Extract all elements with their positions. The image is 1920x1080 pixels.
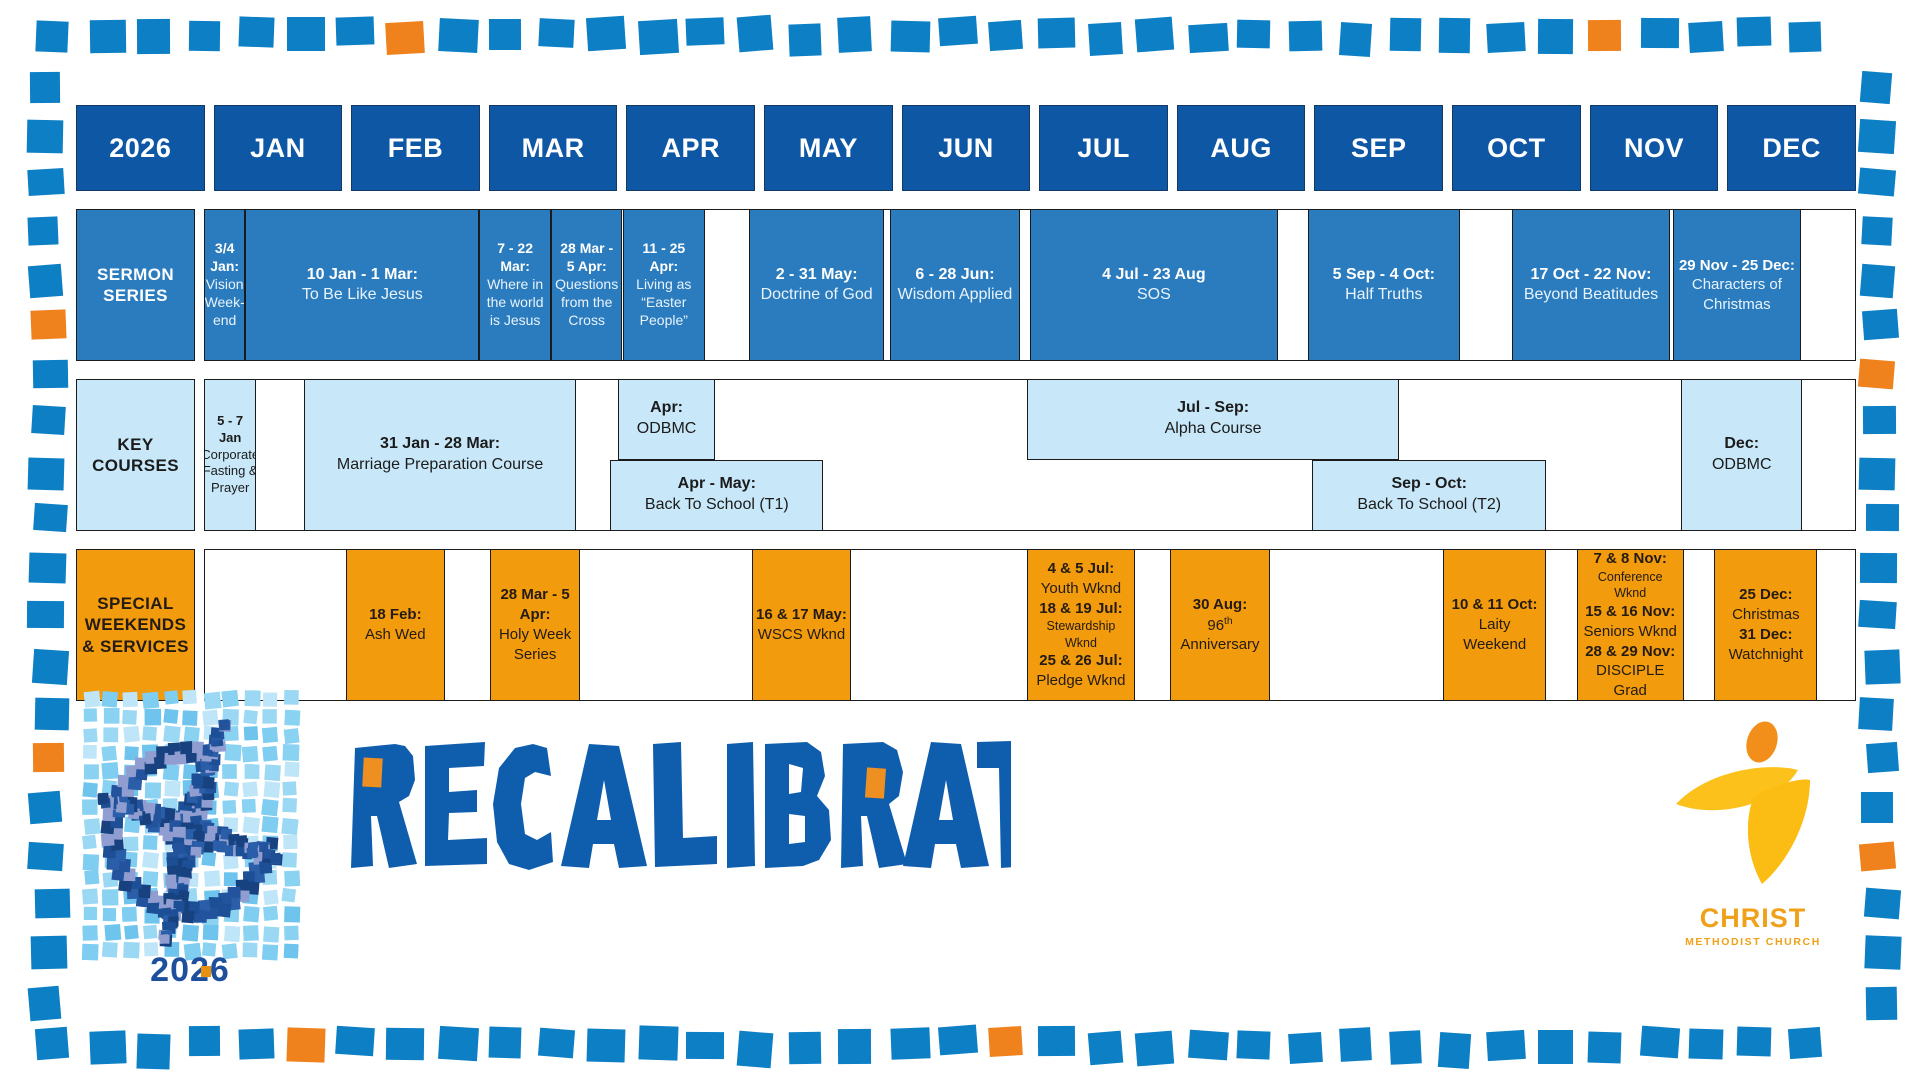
border-tile — [29, 71, 60, 102]
border-tile — [28, 985, 62, 1021]
key-course-item[interactable]: Apr - May:Back To School (T1) — [610, 460, 823, 531]
border-tile — [737, 15, 774, 53]
sermon-series-item[interactable]: 4 Jul - 23 AugSOS — [1030, 209, 1278, 361]
sermon-item-date: 29 Nov - 25 Dec: — [1679, 256, 1795, 275]
key-course-date: Dec: — [1724, 434, 1759, 455]
border-tile — [788, 1032, 820, 1064]
svg-text:2026: 2026 — [150, 951, 230, 989]
key-course-item[interactable]: Dec:ODBMC — [1681, 379, 1802, 531]
border-tile — [1088, 22, 1122, 56]
border-tile — [287, 17, 325, 51]
sermon-item-date: 10 Jan - 1 Mar: — [307, 265, 418, 285]
border-tile — [189, 20, 221, 51]
border-tile — [1588, 1032, 1622, 1064]
border-tile — [1860, 70, 1893, 103]
sermon-item-title: SOS — [1137, 285, 1171, 305]
border-tile — [1866, 986, 1897, 1020]
border-tile — [686, 18, 725, 47]
border-tile — [638, 19, 679, 55]
sermon-series-item[interactable]: 11 - 25 Apr:Living as “Easter People” — [623, 209, 706, 361]
border-tile — [1486, 1030, 1526, 1062]
sermon-item-date: 5 Sep - 4 Oct: — [1333, 265, 1435, 285]
sermon-item-title: Beyond Beatitudes — [1524, 285, 1658, 305]
border-tile — [1865, 935, 1902, 969]
special-entry-title: Laity Weekend — [1447, 615, 1542, 655]
border-tile — [28, 264, 63, 298]
row-label-courses-line-2: COURSES — [92, 455, 179, 476]
key-course-date: Apr: — [650, 398, 683, 419]
month-cell-jul: JUL — [1039, 105, 1168, 191]
month-cell-apr: APR — [626, 105, 755, 191]
sermon-item-title: Half Truths — [1345, 285, 1422, 305]
special-entry-title: Holy Week Series — [494, 625, 575, 665]
key-course-title: ODBMC — [1712, 455, 1772, 476]
special-entry-title: Ash Wed — [365, 625, 426, 645]
month-cell-dec: DEC — [1727, 105, 1856, 191]
key-course-item[interactable]: 31 Jan - 28 Mar:Marriage Preparation Cou… — [304, 379, 575, 531]
border-tile — [1858, 119, 1896, 154]
border-tile — [1788, 21, 1821, 52]
key-course-title: Alpha Course — [1165, 419, 1262, 440]
border-tile — [28, 168, 65, 196]
border-tile — [1864, 650, 1901, 685]
border-tile — [1860, 264, 1896, 299]
month-cell-sep: SEP — [1314, 105, 1443, 191]
border-tile — [1859, 458, 1895, 491]
border-tile — [1862, 406, 1896, 434]
border-tile — [788, 23, 821, 56]
border-tile — [1858, 697, 1894, 731]
border-tile — [488, 19, 520, 50]
key-course-item[interactable]: Apr:ODBMC — [618, 379, 714, 460]
special-entry-date: 28 & 29 Nov: — [1585, 642, 1675, 662]
special-entry-date: 16 & 17 May: — [756, 605, 847, 625]
border-tile — [639, 1026, 679, 1061]
border-tile — [137, 1033, 171, 1069]
border-tile — [1486, 22, 1525, 53]
row-label-courses-line-1: KEY — [117, 434, 153, 455]
border-tile — [336, 17, 375, 46]
border-tile — [1135, 16, 1175, 52]
sermon-series-item[interactable]: 2 - 31 May:Doctrine of God — [749, 209, 884, 361]
border-tile-accent — [287, 1027, 326, 1063]
border-tile — [988, 19, 1023, 50]
sermon-item-date: 6 - 28 Jun: — [915, 265, 994, 285]
sermon-series-item[interactable]: 17 Oct - 22 Nov:Beyond Beatitudes — [1512, 209, 1670, 361]
key-course-date: Sep - Oct: — [1391, 474, 1467, 495]
year-cell: 2026 — [76, 105, 205, 191]
border-tile — [1858, 167, 1896, 196]
sermon-series-item[interactable]: 7 - 22 Mar:Where in the world is Jesus — [479, 209, 551, 361]
border-tile — [1861, 792, 1893, 823]
sermon-item-title: To Be Like Jesus — [302, 285, 423, 305]
special-entry-date: 18 Feb: — [369, 605, 422, 625]
border-tile — [1038, 18, 1076, 48]
key-course-title: Corporate Fasting & Prayer — [204, 447, 256, 498]
sermon-series-item[interactable]: 3/4 Jan:Vision Week-end — [204, 209, 245, 361]
border-tile — [1641, 18, 1679, 49]
border-tile — [1390, 17, 1422, 51]
key-course-date: Apr - May: — [678, 474, 756, 495]
border-tile — [31, 405, 66, 435]
month-cell-may: MAY — [764, 105, 893, 191]
border-tile — [1237, 1030, 1272, 1059]
special-entry-title: Seniors Wknd — [1584, 622, 1677, 642]
track-key-courses: 5 - 7 JanCorporate Fasting & Prayer31 Ja… — [204, 379, 1856, 531]
border-tile — [890, 21, 929, 53]
border-tile — [34, 888, 70, 918]
border-tile — [837, 16, 872, 52]
brand-band: 2026 — [76, 672, 1856, 1002]
row-sermon-series: SERMONSERIES 3/4 Jan:Vision Week-end10 J… — [76, 209, 1856, 361]
sermon-item-title: Where in the world is Jesus — [483, 276, 547, 330]
border-tile — [28, 458, 65, 491]
border-tile — [1135, 1031, 1175, 1067]
border-tile — [586, 16, 626, 51]
annual-calendar: 2026 JAN FEB MAR APR MAY JUN JUL AUG SEP… — [76, 105, 1856, 701]
special-entry-title: Watchnight — [1729, 645, 1803, 665]
border-tile — [27, 842, 63, 871]
special-entry-date: 31 Dec: — [1739, 625, 1792, 645]
sermon-item-date: 3/4 Jan: — [208, 240, 241, 276]
month-cell-oct: OCT — [1452, 105, 1581, 191]
sermon-item-date: 4 Jul - 23 Aug — [1102, 265, 1205, 285]
border-tile — [1688, 21, 1724, 53]
key-course-title: Back To School (T1) — [645, 495, 789, 516]
border-tile-accent — [31, 310, 67, 341]
border-tile — [1860, 553, 1897, 584]
key-course-title: Back To School (T2) — [1357, 495, 1501, 516]
sermon-item-date: 17 Oct - 22 Nov: — [1531, 265, 1652, 285]
row-label-special-line-3: & SERVICES — [82, 636, 189, 657]
border-tile — [488, 1027, 521, 1059]
border-tile — [29, 553, 67, 584]
border-tile-accent — [1858, 358, 1895, 388]
border-tile — [1237, 20, 1271, 49]
border-tile — [90, 20, 126, 54]
special-entry-date: 4 & 5 Jul: — [1048, 559, 1115, 579]
border-tile — [1538, 1030, 1573, 1065]
sermon-series-item[interactable]: 5 Sep - 4 Oct:Half Truths — [1308, 209, 1459, 361]
border-tile — [1640, 1026, 1680, 1059]
border-tile — [1788, 1027, 1822, 1059]
border-tile — [938, 15, 977, 45]
border-tile — [35, 698, 70, 731]
border-tile — [1864, 887, 1902, 919]
key-course-date: 31 Jan - 28 Mar: — [380, 434, 500, 455]
border-tile — [27, 216, 58, 245]
border-tile-accent — [989, 1026, 1024, 1057]
sermon-item-date: 28 Mar - 5 Apr: — [555, 240, 619, 276]
border-tile — [137, 19, 170, 54]
church-subtitle-text: METHODIST CHURCH — [1658, 936, 1848, 948]
row-label-key-courses: KEYCOURSES — [76, 379, 195, 531]
special-entry-title: Youth Wknd — [1041, 579, 1121, 599]
sermon-item-title: Characters of Christmas — [1677, 275, 1797, 313]
border-tile — [1389, 1030, 1422, 1065]
border-tile — [386, 1027, 424, 1060]
key-course-date: Jul - Sep: — [1177, 398, 1249, 419]
border-tile-accent — [1859, 841, 1896, 871]
border-tile — [27, 600, 64, 627]
row-label-sermon-line-2: SERIES — [103, 285, 168, 306]
sermon-series-item[interactable]: 6 - 28 Jun:Wisdom Applied — [890, 209, 1021, 361]
border-tile — [1689, 1029, 1724, 1060]
border-tile — [1737, 1027, 1771, 1057]
border-tile — [1737, 16, 1771, 46]
row-label-sermon-series: SERMONSERIES — [76, 209, 195, 361]
border-tile — [1289, 21, 1323, 52]
border-tile — [1438, 18, 1469, 53]
border-tile — [1189, 23, 1229, 53]
border-tile — [32, 359, 68, 387]
border-tile — [538, 18, 575, 48]
key-course-date: 5 - 7 Jan — [208, 413, 252, 447]
special-entry-date: 30 Aug: — [1193, 595, 1247, 615]
border-tile — [189, 1026, 221, 1057]
border-tile — [438, 18, 478, 53]
border-tile — [686, 1032, 724, 1059]
sermon-series-item[interactable]: 28 Mar - 5 Apr:Questions from the Cross — [551, 209, 623, 361]
border-tile — [538, 1028, 576, 1059]
row-label-special-line-2: WEEKENDS — [85, 614, 186, 635]
border-tile — [1038, 1026, 1075, 1056]
border-tile-accent — [385, 21, 424, 55]
sermon-item-date: 2 - 31 May: — [776, 265, 858, 285]
border-tile — [838, 1029, 871, 1064]
border-tile — [1339, 1027, 1372, 1062]
border-tile — [1289, 1032, 1324, 1064]
border-tile — [1438, 1032, 1471, 1069]
sermon-series-item[interactable]: 10 Jan - 1 Mar:To Be Like Jesus — [245, 209, 479, 361]
special-entry-date: 7 & 8 Nov: — [1594, 549, 1667, 569]
border-tile-accent — [1588, 20, 1621, 51]
border-tile — [1861, 216, 1893, 246]
border-tile — [737, 1031, 774, 1069]
key-course-item[interactable]: Sep - Oct:Back To School (T2) — [1312, 460, 1546, 531]
sermon-item-title: Vision Week-end — [205, 276, 245, 330]
month-cell-mar: MAR — [489, 105, 618, 191]
border-tile — [1188, 1030, 1229, 1060]
sermon-series-item[interactable]: 29 Nov - 25 Dec:Characters of Christmas — [1673, 209, 1801, 361]
border-tile — [335, 1025, 375, 1055]
church-flame-figure-icon — [1658, 718, 1848, 898]
month-cell-jun: JUN — [902, 105, 1031, 191]
border-tile — [1339, 22, 1372, 57]
border-tile — [28, 791, 62, 824]
special-entry-title: WSCS Wknd — [758, 625, 846, 645]
recalibrate-wordmark — [351, 740, 1011, 880]
border-tile — [36, 20, 69, 53]
border-tile — [1866, 742, 1899, 773]
border-tile — [35, 1027, 69, 1061]
border-tile — [1088, 1031, 1123, 1065]
church-name-text: CHRIST — [1658, 903, 1848, 934]
border-tile — [1858, 599, 1896, 628]
track-sermon-series: 3/4 Jan:Vision Week-end10 Jan - 1 Mar:To… — [204, 209, 1856, 361]
key-course-title: ODBMC — [637, 419, 697, 440]
sermon-item-title: Questions from the Cross — [555, 276, 619, 330]
row-key-courses: KEYCOURSES 5 - 7 JanCorporate Fasting & … — [76, 379, 1856, 531]
sermon-item-title: Wisdom Applied — [898, 285, 1013, 305]
special-entry-title: 96thAnniversary — [1180, 615, 1259, 656]
border-tile — [1866, 504, 1899, 531]
special-entry-date: 10 & 11 Oct: — [1452, 595, 1538, 615]
key-course-item[interactable]: 5 - 7 JanCorporate Fasting & Prayer — [204, 379, 256, 531]
sermon-item-date: 7 - 22 Mar: — [483, 240, 547, 276]
sermon-item-title: Doctrine of God — [761, 285, 873, 305]
key-course-item[interactable]: Jul - Sep:Alpha Course — [1027, 379, 1399, 460]
special-entry-title: Stewardship Wknd — [1031, 618, 1130, 651]
border-tile-accent — [33, 743, 65, 772]
key-course-title: Marriage Preparation Course — [337, 455, 543, 476]
border-tile — [27, 119, 64, 153]
month-cell-jan: JAN — [214, 105, 343, 191]
border-tile — [239, 1029, 275, 1060]
special-entry-date: 25 & 26 Jul: — [1039, 651, 1122, 671]
border-tile — [890, 1027, 930, 1059]
border-tile — [239, 17, 275, 48]
special-entry-date: 28 Mar - 5 Apr: — [494, 585, 575, 625]
calendar-poster: 2026 JAN FEB MAR APR MAY JUN JUL AUG SEP… — [0, 0, 1920, 1080]
special-entry-date: 25 Dec: — [1739, 585, 1792, 605]
recalibrate-mosaic-compass-logo: 2026 — [76, 682, 304, 1002]
border-tile — [33, 503, 68, 532]
special-entry-date: 15 & 16 Nov: — [1585, 602, 1675, 622]
christ-methodist-church-logo: CHRIST METHODIST CHURCH — [1658, 718, 1848, 968]
sermon-item-date: 11 - 25 Apr: — [627, 240, 702, 276]
special-entry-date: 18 & 19 Jul: — [1039, 599, 1122, 619]
special-entry-title: Conference Wknd — [1581, 569, 1680, 602]
border-tile — [938, 1025, 978, 1055]
border-tile — [438, 1025, 479, 1061]
border-tile — [32, 649, 70, 685]
month-cell-nov: NOV — [1590, 105, 1719, 191]
month-cell-feb: FEB — [351, 105, 480, 191]
month-header-row: 2026 JAN FEB MAR APR MAY JUN JUL AUG SEP… — [76, 105, 1856, 191]
border-tile — [1862, 309, 1899, 341]
row-label-sermon-line-1: SERMON — [97, 264, 174, 285]
border-tile — [90, 1030, 127, 1065]
border-tile — [31, 935, 67, 969]
month-cell-aug: AUG — [1177, 105, 1306, 191]
sermon-item-title: Living as “Easter People” — [627, 276, 702, 330]
special-entry-title: Christmas — [1732, 605, 1800, 625]
row-label-special-line-1: SPECIAL — [97, 593, 173, 614]
border-tile — [1538, 19, 1574, 54]
border-tile — [587, 1029, 626, 1063]
